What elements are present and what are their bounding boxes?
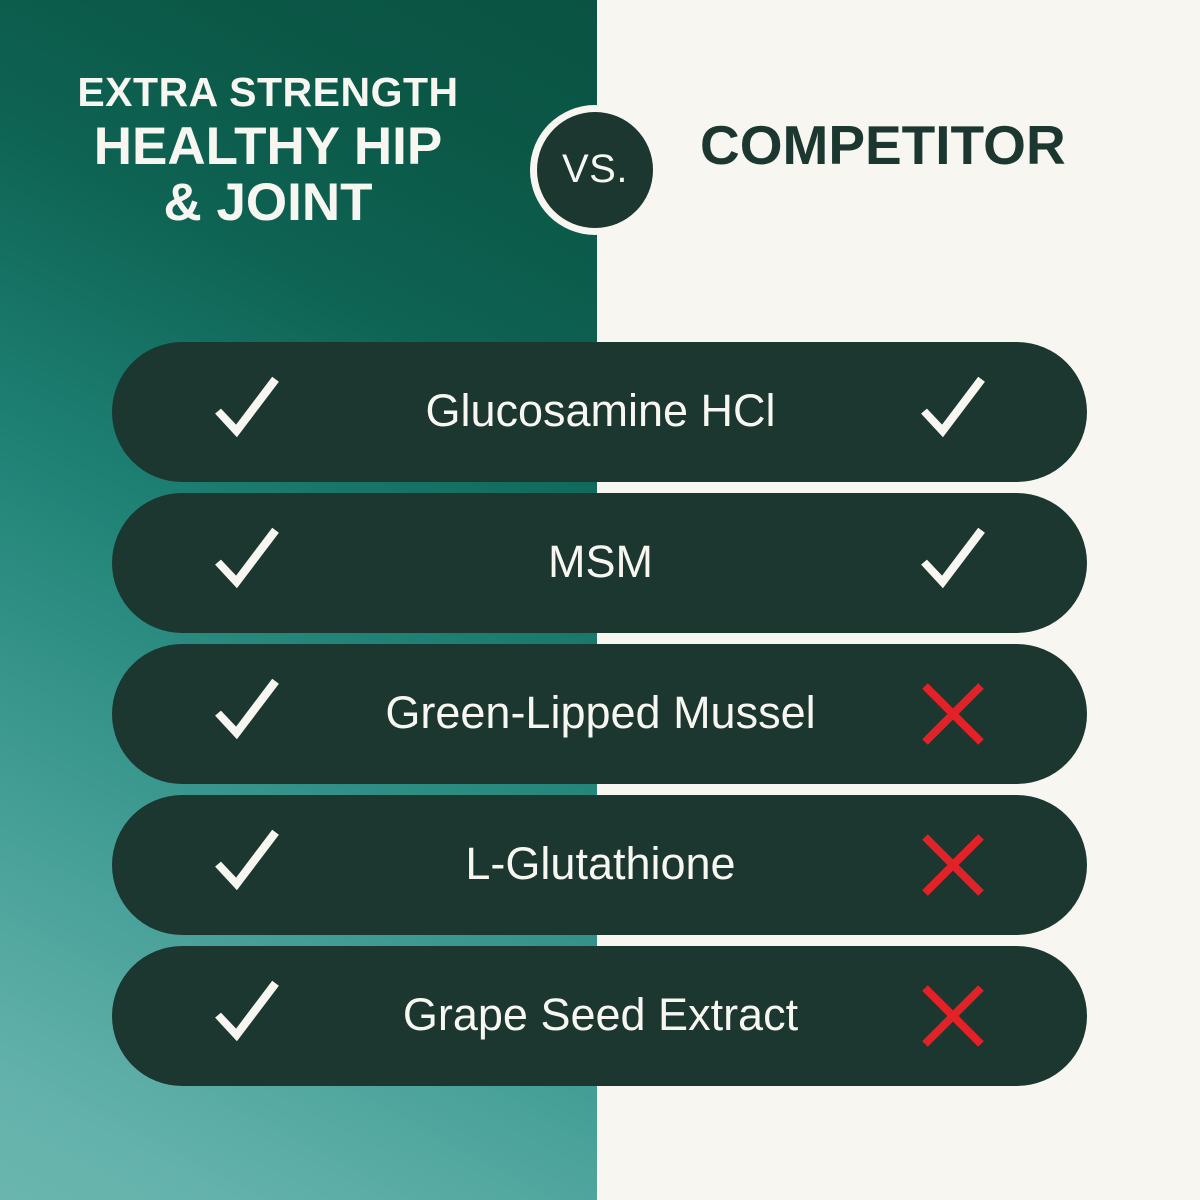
ours-cell [112,974,382,1058]
vs-badge: VS. [530,105,660,235]
ingredient-cell: Grape Seed Extract [382,989,819,1043]
ingredient-cell: Glucosamine HCl [382,385,819,439]
brand-title-line-2: HEALTHY HIP [46,120,490,173]
competitor-title: COMPETITOR [700,118,1160,173]
check-icon-ours [205,521,289,605]
comparison-row: Grape Seed Extract [112,946,1087,1086]
comparison-row: Green-Lipped Mussel [112,644,1087,784]
brand-title-line-3: & JOINT [46,176,490,229]
comparison-row: MSM [112,493,1087,633]
ours-cell [112,672,382,756]
ingredient-label: Grape Seed Extract [403,989,798,1041]
competitor-cell [819,981,1087,1051]
check-icon-ours [205,370,289,454]
ingredient-label: L-Glutathione [465,838,735,890]
vs-badge-circle: VS. [537,112,653,228]
check-icon-theirs [911,370,995,454]
competitor-cell [819,679,1087,749]
header: EXTRA STRENGTH HEALTHY HIP & JOINT VS. C… [0,0,1200,342]
check-icon-ours [205,974,289,1058]
ingredient-cell: Green-Lipped Mussel [382,687,819,741]
brand-title-line-1: EXTRA STRENGTH [46,72,490,113]
check-icon-ours [205,823,289,907]
competitor-cell [819,521,1087,605]
comparison-rows: Glucosamine HClMSMGreen-Lipped MusselL-G… [0,342,1200,1097]
brand-title: EXTRA STRENGTH HEALTHY HIP & JOINT [46,72,490,232]
competitor-cell [819,370,1087,454]
ours-cell [112,521,382,605]
cross-icon-theirs [918,830,988,900]
comparison-row: Glucosamine HCl [112,342,1087,482]
ours-cell [112,370,382,454]
comparison-infographic: EXTRA STRENGTH HEALTHY HIP & JOINT VS. C… [0,0,1200,1200]
ingredient-label: Glucosamine HCl [425,385,775,437]
comparison-row: L-Glutathione [112,795,1087,935]
ingredient-cell: MSM [382,536,819,590]
cross-icon-theirs [918,981,988,1051]
check-icon-ours [205,672,289,756]
ingredient-cell: L-Glutathione [382,838,819,892]
ours-cell [112,823,382,907]
check-icon-theirs [911,521,995,605]
ingredient-label: MSM [548,536,653,588]
vs-badge-label: VS. [562,147,628,192]
ingredient-label: Green-Lipped Mussel [385,687,815,739]
competitor-cell [819,830,1087,900]
cross-icon-theirs [918,679,988,749]
